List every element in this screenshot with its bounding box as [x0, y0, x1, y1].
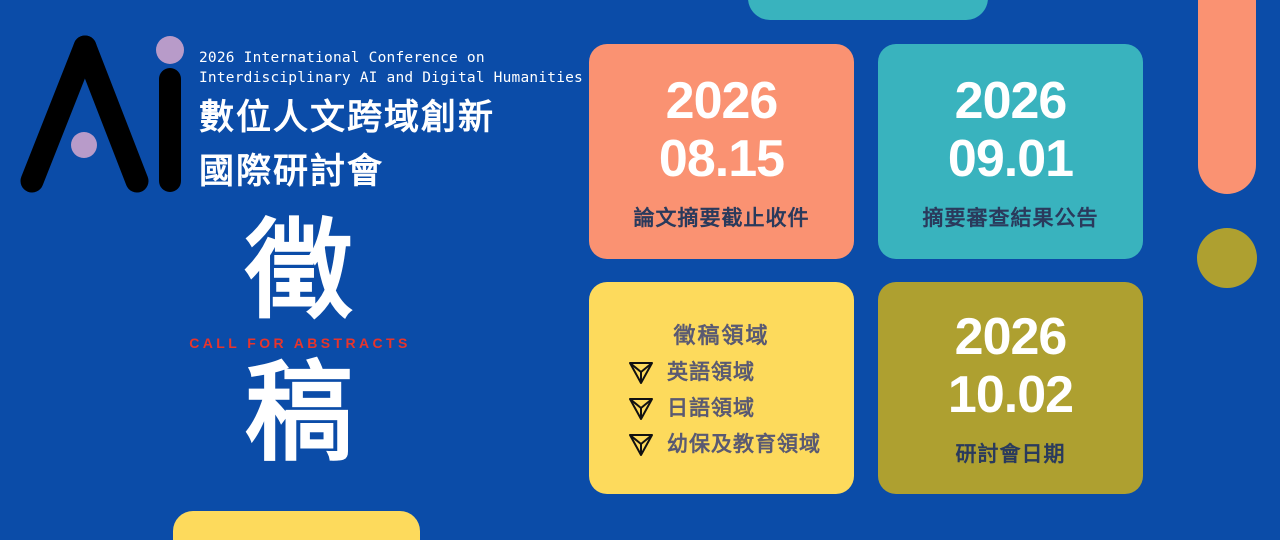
list-item[interactable]: 英語領域 — [626, 356, 821, 386]
card-date: 10.02 — [948, 366, 1073, 424]
call-for-abstracts-english: CALL FOR ABSTRACTS — [180, 335, 420, 351]
card-date: 08.15 — [659, 130, 784, 188]
card-review-result[interactable]: 2026 09.01 摘要審查結果公告 — [878, 44, 1143, 259]
key-dates-card-grid: 2026 08.15 論文摘要截止收件 2026 09.01 摘要審查結果公告 … — [589, 44, 1143, 494]
english-title-line-2: Interdisciplinary AI and Digital Humanit… — [199, 68, 579, 88]
card-conference-date[interactable]: 2026 10.02 研討會日期 — [878, 282, 1143, 494]
card-year: 2026 — [955, 308, 1067, 366]
fields-card-title: 徵稿領域 — [673, 318, 769, 350]
card-label: 摘要審查結果公告 — [923, 202, 1099, 232]
ai-logo-icon — [18, 33, 190, 193]
list-item[interactable]: 幼保及教育領域 — [626, 428, 821, 458]
conference-call-for-abstracts-poster: 2026 International Conference on Interdi… — [0, 0, 1280, 540]
send-triangle-icon — [626, 428, 656, 458]
card-date: 09.01 — [948, 130, 1073, 188]
brand-block: 2026 International Conference on Interdi… — [0, 0, 580, 540]
field-label: 日語領域 — [667, 392, 755, 422]
english-title-line-1: 2026 International Conference on — [199, 48, 579, 68]
field-label: 幼保及教育領域 — [667, 428, 821, 458]
salmon-rounded-bar-right-decoration — [1198, 0, 1256, 194]
chinese-title-line-2: 國際研討會 — [199, 148, 579, 196]
card-call-for-papers-fields[interactable]: 徵稿領域 英語領域 — [589, 282, 854, 494]
card-year: 2026 — [955, 72, 1067, 130]
field-label: 英語領域 — [667, 356, 755, 386]
card-label: 研討會日期 — [956, 438, 1066, 468]
call-for-abstracts-block: 徵 CALL FOR ABSTRACTS 稿 — [180, 215, 420, 469]
send-triangle-icon — [626, 392, 656, 422]
call-char-top: 徵 — [180, 215, 420, 327]
fields-list: 英語領域 日語領域 — [622, 356, 821, 458]
call-char-bottom: 稿 — [180, 357, 420, 469]
card-abstract-deadline[interactable]: 2026 08.15 論文摘要截止收件 — [589, 44, 854, 259]
card-year: 2026 — [666, 72, 778, 130]
send-triangle-icon — [626, 356, 656, 386]
card-label: 論文摘要截止收件 — [634, 202, 810, 232]
chinese-title-line-1: 數位人文跨域創新 — [199, 94, 579, 142]
list-item[interactable]: 日語領域 — [626, 392, 821, 422]
teal-rounded-bar-top-decoration — [748, 0, 988, 20]
olive-circle-right-decoration — [1197, 228, 1257, 288]
conference-title-block: 2026 International Conference on Interdi… — [199, 48, 579, 196]
